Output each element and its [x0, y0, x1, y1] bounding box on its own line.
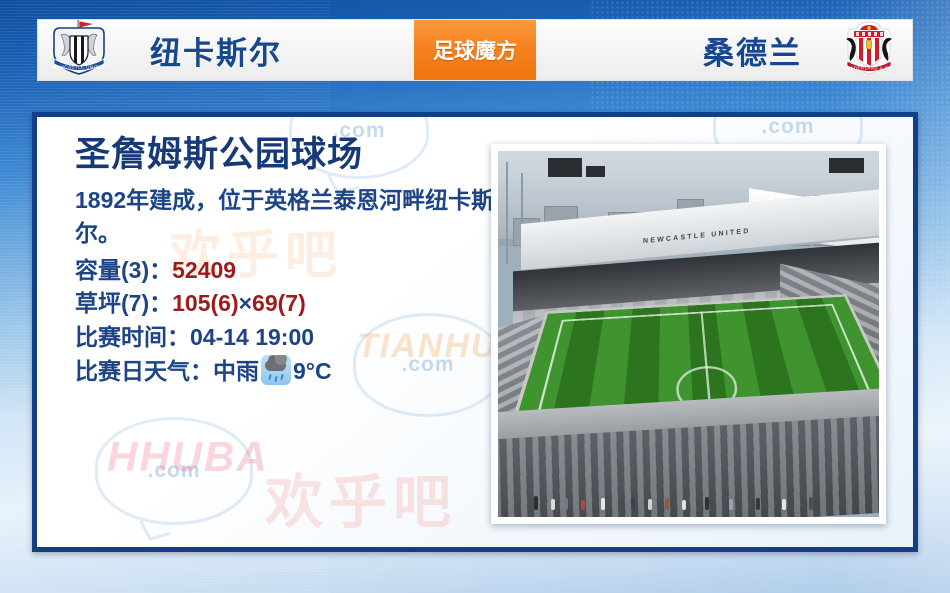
stadium-title: 圣詹姆斯公园球场 [75, 135, 495, 175]
svg-text:NEWCASTLE UNITED: NEWCASTLE UNITED [52, 64, 106, 69]
sunderland-afc-crest: SUNDERLAND A.F.C. [832, 19, 906, 82]
match-time-row: 比赛时间：04-14 19:00 [75, 321, 495, 354]
match-weather-row: 比赛日天气：中雨 9°C [75, 355, 495, 388]
rain-drop [280, 373, 283, 379]
capacity-label: 容量(3)： [75, 257, 172, 283]
away-team-name: 桑德兰 [703, 28, 802, 73]
stadium-description: 1892年建成，位于英格兰泰恩河畔纽卡斯尔。 [75, 184, 495, 249]
away-team-block[interactable]: 桑德兰 [536, 20, 912, 80]
stadium-info-panel: .com .com .com .com HHUBA TIANHUBA 欢乎吧 欢… [32, 112, 918, 552]
stadium-photo: NEWCASTLE UNITED [498, 151, 879, 517]
weather-label: 比赛日天气： [75, 358, 213, 384]
newcastle-united-crest: NEWCASTLE UNITED [44, 19, 114, 82]
pitch-row: 草坪(7)：105(6)×69(7) [75, 287, 495, 320]
watermark-dotcom-2: .com [716, 115, 860, 139]
weather-condition: 中雨 [213, 358, 259, 384]
moderate-rain-icon [261, 355, 291, 385]
photo-roof-speaker [586, 166, 605, 177]
watermark-hhuba-left: HHUBA [107, 433, 269, 481]
pitch-length-value: 105(6) [172, 290, 238, 316]
home-team-block[interactable]: NEWCASTLE UNITED 纽卡斯尔 [38, 20, 414, 80]
rain-drop [268, 373, 271, 379]
pitch-width-value: 69(7) [252, 290, 306, 316]
match-header-bar: NEWCASTLE UNITED 纽卡斯尔 足球魔方 桑德兰 [37, 19, 913, 81]
brand-logo-text: 足球魔方 [433, 35, 517, 65]
photo-floodlight-mast [506, 162, 508, 264]
watermark-huanhuba-cn: 欢乎吧 [265, 455, 457, 539]
bubble-tail [139, 515, 171, 541]
pitch-label: 草坪(7)： [75, 290, 172, 316]
rain-drop [274, 375, 277, 381]
stadium-info-text: 圣詹姆斯公园球场 1892年建成，位于英格兰泰恩河畔纽卡斯尔。 容量(3)：52… [75, 135, 495, 388]
photo-spectators [521, 429, 856, 510]
weather-temperature: 9°C [293, 358, 332, 384]
capacity-row: 容量(3)：52409 [75, 254, 495, 287]
capacity-value: 52409 [172, 257, 236, 283]
watermark-dotcom-3: .com [98, 459, 250, 483]
home-team-name: 纽卡斯尔 [150, 28, 282, 73]
match-time-value: 04-14 19:00 [190, 324, 314, 350]
photo-roof-speaker [829, 158, 863, 173]
match-stadium-card: NEWCASTLE UNITED 纽卡斯尔 足球魔方 桑德兰 [0, 0, 950, 593]
svg-text:SUNDERLAND A.F.C.: SUNDERLAND A.F.C. [843, 65, 894, 70]
stadium-photo-frame: NEWCASTLE UNITED [491, 144, 886, 524]
match-time-label: 比赛时间： [75, 324, 190, 350]
watermark-bubble-bottom-left: .com [95, 417, 253, 525]
photo-roof-speaker [548, 158, 582, 176]
brand-logo[interactable]: 足球魔方 [414, 20, 536, 80]
pitch-separator: × [239, 290, 252, 316]
cloud-shape [265, 360, 286, 371]
